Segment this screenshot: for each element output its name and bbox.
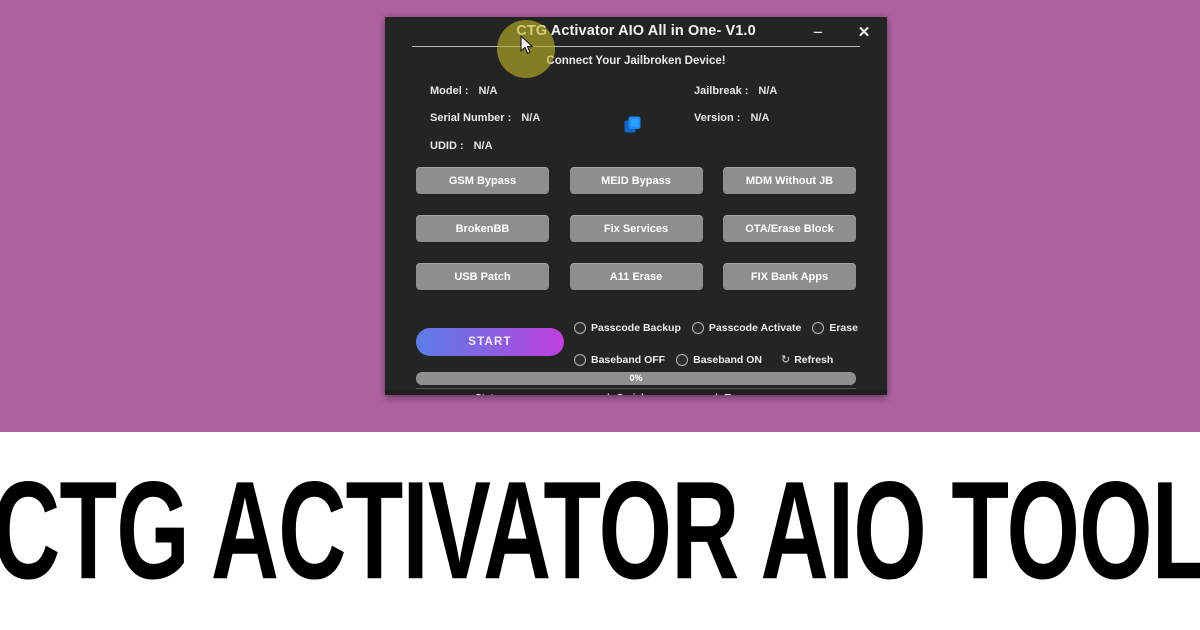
info-jailbreak: Jailbreak :N/A [694, 85, 777, 97]
a11-erase-button[interactable]: A11 Erase [570, 263, 703, 290]
action-row-1: GSM Bypass MEID Bypass MDM Without JB [416, 167, 856, 194]
fix-services-button[interactable]: Fix Services [570, 215, 703, 242]
usb-patch-button[interactable]: USB Patch [416, 263, 549, 290]
info-serial-number: Serial Number :N/A [430, 112, 540, 124]
headline-title: CTG ACTIVATOR AIO TOOL [0, 461, 1200, 600]
device-info-panel: Model :N/A Serial Number :N/A UDID :N/A … [385, 85, 887, 165]
action-row-2: BrokenBB Fix Services OTA/Erase Block [416, 215, 856, 242]
option-row-2: Baseband OFF Baseband ON ↻ Refresh [574, 353, 833, 366]
radio-circle-icon [692, 322, 704, 334]
title-divider [412, 46, 860, 47]
info-udid-value: N/A [474, 140, 493, 152]
info-udid-label: UDID : [430, 140, 464, 152]
connect-device-subtitle: Connect Your Jailbroken Device! [385, 55, 887, 67]
headline-banner: CTG ACTIVATOR AIO TOOL [0, 432, 1200, 630]
action-button-grid: GSM Bypass MEID Bypass MDM Without JB Br… [416, 167, 856, 311]
info-version: Version :N/A [694, 112, 769, 124]
copy-icon[interactable] [623, 115, 643, 135]
status-divider [416, 388, 856, 389]
radio-baseband-off[interactable]: Baseband OFF [574, 354, 665, 366]
info-model-label: Model : [430, 85, 469, 97]
info-jailbreak-value: N/A [758, 85, 777, 97]
radio-passcode-activate-label: Passcode Activate [709, 322, 801, 334]
ctg-activator-window: CTG Activator AIO All in One- V1.0 − ✕ C… [385, 17, 887, 395]
info-serial-number-label: Serial Number : [430, 112, 511, 124]
page-root: CTG Activator AIO All in One- V1.0 − ✕ C… [0, 0, 1200, 630]
status-serial-separator: | [607, 393, 610, 395]
minimize-button[interactable]: − [805, 21, 831, 45]
ota-erase-block-button[interactable]: OTA/Erase Block [723, 215, 856, 242]
fix-bank-apps-button[interactable]: FIX Bank Apps [723, 263, 856, 290]
mdm-without-jb-button[interactable]: MDM Without JB [723, 167, 856, 194]
gsm-bypass-button[interactable]: GSM Bypass [416, 167, 549, 194]
status-state: State : [475, 393, 506, 395]
radio-passcode-activate[interactable]: Passcode Activate [692, 322, 801, 334]
radio-baseband-on[interactable]: Baseband ON [676, 354, 762, 366]
radio-circle-icon [676, 354, 688, 366]
title-bar: CTG Activator AIO All in One- V1.0 − ✕ [385, 17, 887, 49]
radio-baseband-on-label: Baseband ON [693, 354, 762, 366]
status-state-label: State : [475, 393, 506, 395]
status-type-separator: | [715, 393, 718, 395]
refresh-button[interactable]: ↻ Refresh [781, 353, 833, 366]
info-version-value: N/A [750, 112, 769, 124]
status-bar: State : | Serial : | Type : [385, 390, 887, 395]
refresh-icon: ↻ [781, 353, 790, 366]
info-udid: UDID :N/A [430, 140, 493, 152]
status-type-label: Type : [725, 393, 754, 395]
progress-bar: 0% [416, 372, 856, 385]
radio-circle-icon [574, 322, 586, 334]
brokenbb-button[interactable]: BrokenBB [416, 215, 549, 242]
close-button[interactable]: ✕ [851, 21, 877, 45]
radio-erase-label: Erase [829, 322, 858, 334]
status-type: | Type : [715, 393, 753, 395]
radio-erase[interactable]: Erase [812, 322, 858, 334]
start-button[interactable]: START [416, 328, 564, 356]
action-row-3: USB Patch A11 Erase FIX Bank Apps [416, 263, 856, 290]
radio-passcode-backup[interactable]: Passcode Backup [574, 322, 681, 334]
refresh-label: Refresh [794, 354, 833, 366]
status-serial: | Serial : [607, 393, 650, 395]
status-serial-label: Serial : [617, 393, 650, 395]
info-jailbreak-label: Jailbreak : [694, 85, 748, 97]
radio-circle-icon [812, 322, 824, 334]
info-serial-number-value: N/A [521, 112, 540, 124]
info-version-label: Version : [694, 112, 740, 124]
info-model-value: N/A [479, 85, 498, 97]
radio-circle-icon [574, 354, 586, 366]
progress-percent-label: 0% [416, 372, 856, 385]
info-model: Model :N/A [430, 85, 497, 97]
radio-baseband-off-label: Baseband OFF [591, 354, 665, 366]
option-row-1: Passcode Backup Passcode Activate Erase [574, 322, 869, 334]
meid-bypass-button[interactable]: MEID Bypass [570, 167, 703, 194]
radio-passcode-backup-label: Passcode Backup [591, 322, 681, 334]
